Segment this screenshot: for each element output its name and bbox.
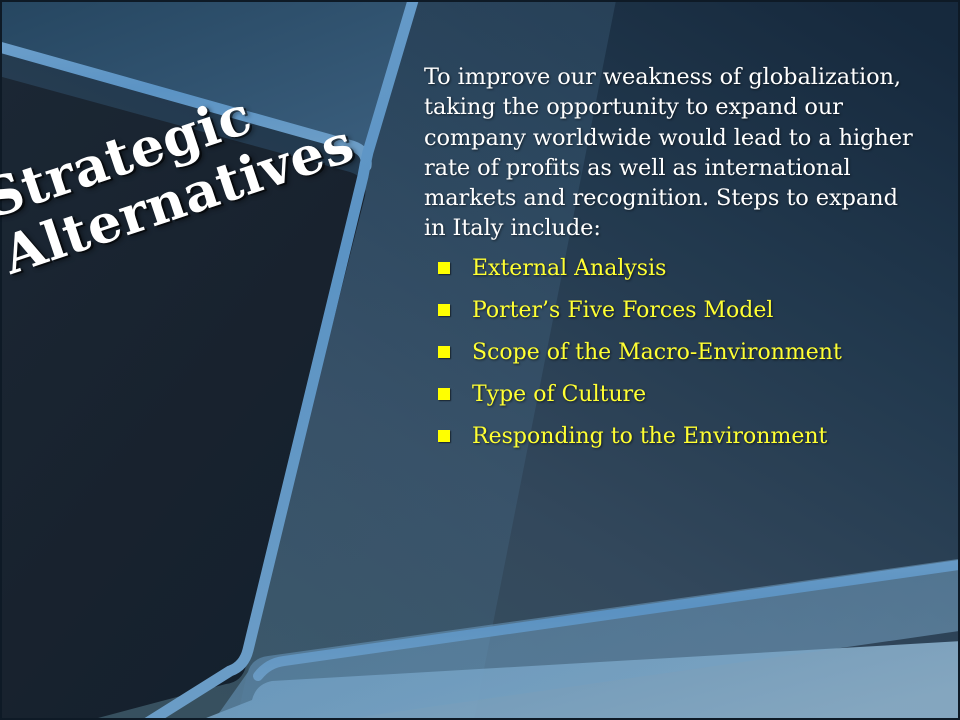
list-item: Responding to the Environment <box>424 422 924 456</box>
list-item-label: Scope of the Macro-Environment <box>472 338 924 368</box>
list-item: Porter’s Five Forces Model <box>424 296 924 330</box>
list-item: Type of Culture <box>424 380 924 414</box>
presentation-slide: Strategic Alternatives To improve our we… <box>0 0 960 720</box>
square-bullet-icon <box>438 346 450 358</box>
list-item-label: Porter’s Five Forces Model <box>472 296 924 326</box>
lead-paragraph: To improve our weakness of globalization… <box>424 62 924 244</box>
list-item: External Analysis <box>424 254 924 288</box>
square-bullet-icon <box>438 304 450 316</box>
square-bullet-icon <box>438 388 450 400</box>
slide-content-body: To improve our weakness of globalization… <box>424 62 924 464</box>
list-item-label: Type of Culture <box>472 380 924 410</box>
square-bullet-icon <box>438 430 450 442</box>
list-item-label: External Analysis <box>472 254 924 284</box>
list-item: Scope of the Macro-Environment <box>424 338 924 372</box>
square-bullet-icon <box>438 262 450 274</box>
list-item-label: Responding to the Environment <box>472 422 924 452</box>
bullet-list: External Analysis Porter’s Five Forces M… <box>424 254 924 456</box>
